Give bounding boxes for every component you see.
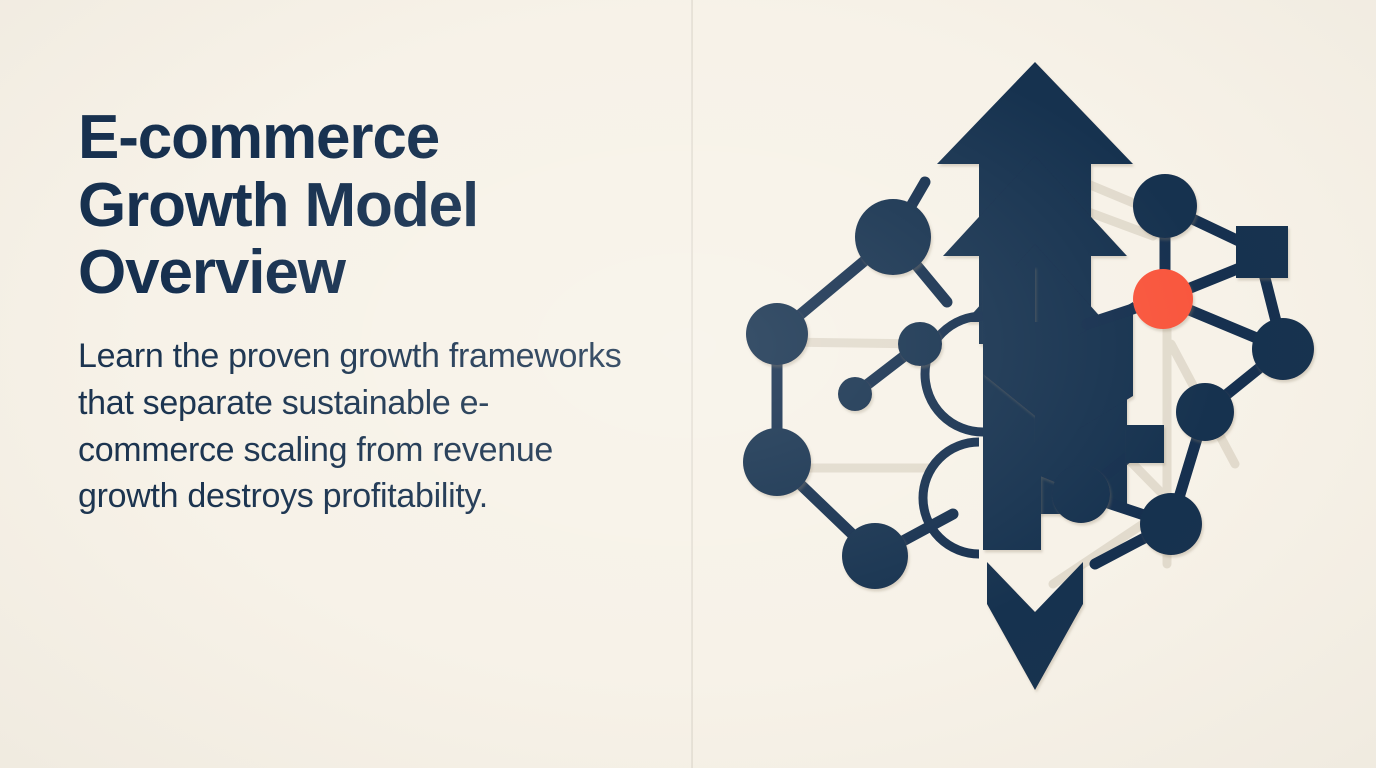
node-accent-red[interactable]: [1133, 269, 1193, 329]
node-tiny-left[interactable]: [838, 377, 872, 411]
node-left-upper[interactable]: [746, 303, 808, 365]
down-arrow: [987, 562, 1083, 690]
page-title: E-commerce Growth Model Overview: [78, 104, 618, 307]
node-square-top-right[interactable]: [1236, 226, 1288, 278]
vertical-divider: [691, 0, 693, 768]
node-right-lower[interactable]: [1176, 383, 1234, 441]
node-bottom-right[interactable]: [1140, 493, 1202, 555]
node-top-right[interactable]: [1133, 174, 1197, 238]
growth-network-illustration: [735, 44, 1335, 724]
node-square-mid[interactable]: [1126, 425, 1164, 463]
left-text-panel: E-commerce Growth Model Overview Learn t…: [0, 0, 692, 768]
network-diagram-svg: [735, 44, 1335, 724]
slab-block: [983, 442, 1041, 550]
node-bottom-mid[interactable]: [1052, 465, 1110, 523]
right-graphic-panel: [694, 0, 1376, 768]
node-inner-small[interactable]: [898, 322, 942, 366]
down-arrow-group: [987, 562, 1083, 690]
node-left-lower[interactable]: [743, 428, 811, 496]
node-upper-left[interactable]: [855, 199, 931, 275]
node-bottom-left[interactable]: [842, 523, 908, 589]
node-right[interactable]: [1252, 318, 1314, 380]
page-subtitle: Learn the proven growth frameworks that …: [78, 333, 632, 521]
slide-root: E-commerce Growth Model Overview Learn t…: [0, 0, 1376, 768]
arc-lower: [923, 442, 979, 554]
faint-link-bottom: [1053, 524, 1143, 584]
